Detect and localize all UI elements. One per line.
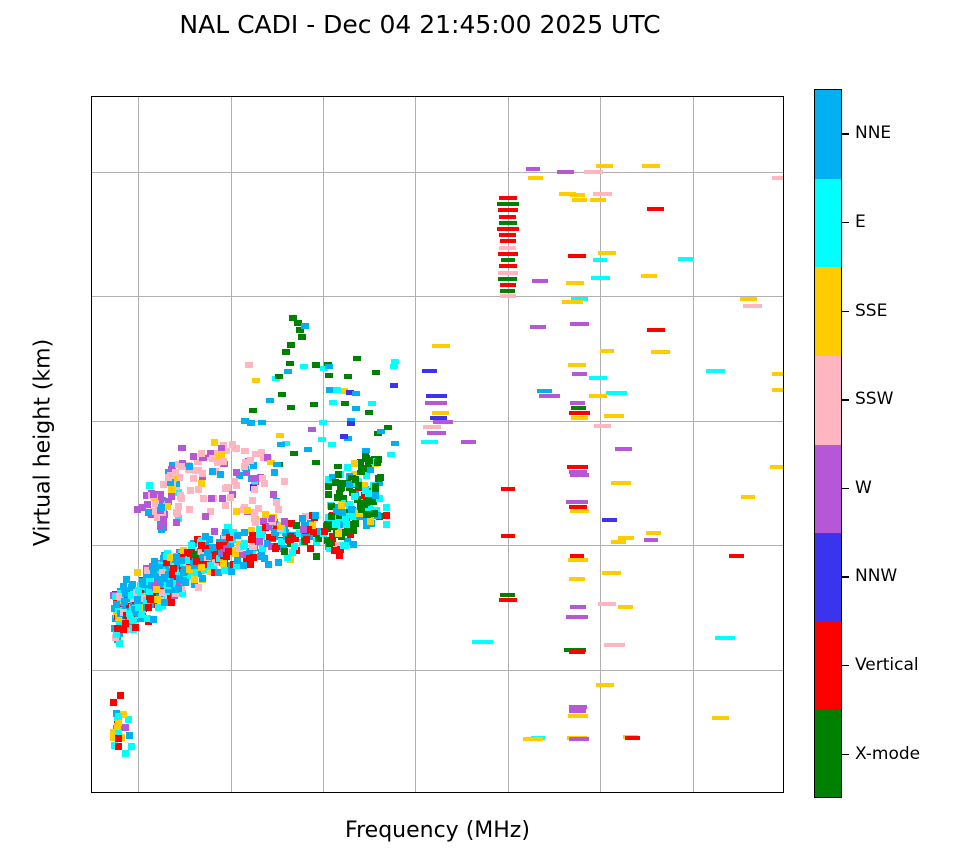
echo-point [358,466,366,471]
echo-point [178,557,185,564]
echo-point [247,420,255,426]
echo-point [348,506,355,513]
echo-point [272,545,279,552]
echo-point [190,475,197,482]
echo-point [202,533,209,540]
echo-point [557,170,574,174]
echo-point [247,457,254,464]
colorbar-label: E [855,212,866,232]
y-axis-minor-tick [91,483,92,484]
colorbar-segment [815,356,841,445]
plot-area: 020040060080010002468101214160 [91,96,784,793]
echo-point [526,167,541,171]
echo-point [594,424,612,428]
echo-point [115,735,122,742]
echo-point [240,543,247,550]
echo-point [500,289,515,293]
echo-point [499,221,516,225]
echo-point [281,478,288,485]
echo-point [641,274,657,278]
echo-point [188,542,195,549]
echo-point [222,502,229,509]
echo-point [228,568,235,575]
x-axis-tick [138,792,139,793]
echo-point [523,737,543,741]
echo-point [207,562,214,569]
echo-point [110,699,117,706]
echo-point [258,420,266,425]
gridline-horizontal [92,296,783,297]
echo-point [530,325,546,329]
echo-point [161,599,168,606]
echo-point [168,493,175,500]
echo-point [300,364,308,369]
echo-point [568,558,588,562]
echo-point [273,499,280,506]
echo-point [366,457,373,464]
echo-point [772,388,784,392]
echo-point [570,193,585,197]
echo-point [426,394,447,398]
echo-point [611,540,626,544]
echo-point [423,425,441,429]
echo-point [178,463,185,470]
echo-point [224,484,231,491]
echo-point [497,202,519,206]
echo-point [584,170,603,174]
echo-point [499,246,516,250]
echo-point [361,501,368,508]
echo-point [275,559,282,566]
echo-point [198,564,205,571]
colorbar-tick [842,133,849,134]
gridline-vertical [415,97,416,792]
colorbar-segment [815,179,841,268]
echo-point [146,482,153,489]
echo-point [743,304,762,308]
colorbar-label: NNW [855,566,897,586]
echo-point [190,453,197,460]
echo-point [117,692,124,699]
echo-point [472,640,493,644]
echo-point [770,465,784,469]
echo-point [425,401,447,405]
echo-point [160,517,167,524]
echo-point [602,518,617,522]
colorbar-tick [842,222,849,223]
y-axis-title: Virtual height (km) [31,253,56,633]
echo-point [300,526,307,533]
y-axis-tick [91,172,92,173]
x-axis-title: Frequency (MHz) [91,818,784,843]
echo-point [286,361,294,366]
echo-point [126,732,133,739]
x-axis-minor-tick [462,792,463,793]
echo-point [321,528,328,535]
x-axis-minor-tick [646,792,647,793]
x-axis-minor-tick [739,792,740,793]
echo-point [352,520,359,527]
x-axis-minor-tick [184,792,185,793]
echo-point [566,615,588,619]
echo-point [287,405,295,410]
echo-point [160,481,167,488]
echo-point [262,511,269,518]
echo-point [202,513,209,520]
echo-point [145,509,152,516]
echo-point [528,176,543,180]
echo-point [307,545,314,552]
echo-point [383,512,390,519]
echo-point [729,554,744,558]
echo-point [166,580,173,587]
echo-point [252,519,259,526]
echo-point [501,534,515,538]
echo-point [352,391,360,396]
echo-point [383,504,390,511]
echo-point [598,251,617,255]
echo-point [312,362,320,368]
x-axis-tick [323,792,324,793]
echo-point [128,743,135,750]
y-axis-tick [91,670,92,671]
echo-point [604,414,624,418]
echo-point [293,522,300,529]
echo-point [275,506,282,513]
echo-point [500,294,516,298]
echo-point [367,518,374,525]
echo-point [568,714,588,718]
echo-point [325,364,333,369]
echo-point [114,625,121,632]
echo-point [318,437,326,442]
echo-point [298,334,306,340]
echo-point [383,521,390,528]
echo-point [362,487,369,494]
echo-point [134,506,141,513]
colorbar [814,89,842,798]
echo-point [208,495,215,502]
echo-point [245,362,253,368]
colorbar-segment [815,710,841,798]
echo-point [303,536,310,543]
echo-point [615,447,632,451]
echo-point [353,356,361,361]
echo-point [611,481,630,485]
x-axis-minor-tick [369,792,370,793]
echo-point [340,434,348,439]
echo-point [249,408,257,413]
echo-point [367,466,374,473]
colorbar-tick [842,754,849,755]
echo-point [199,470,206,477]
echo-point [591,276,610,280]
echo-point [618,605,633,609]
echo-point [500,593,515,597]
echo-point [646,531,662,535]
echo-point [168,599,175,606]
echo-point [173,509,180,516]
echo-point [430,416,448,420]
echo-point [593,192,613,196]
echo-point [122,724,129,731]
echo-point [132,624,139,631]
echo-point [135,604,142,611]
colorbar-label: W [855,478,872,498]
echo-point [257,553,264,560]
echo-point [337,485,344,492]
echo-point [271,469,278,476]
echo-point [278,392,286,397]
echo-point [165,474,172,481]
echo-point [706,369,725,373]
echo-point [273,462,281,467]
echo-point [266,398,274,403]
echo-point [715,636,734,640]
echo-point [498,208,518,212]
echo-point [606,391,628,395]
echo-point [569,411,590,415]
ionogram-figure: NAL CADI - Dec 04 21:45:00 2025 UTC 0200… [0,0,958,857]
echo-point [304,447,312,452]
echo-point [339,509,346,516]
echo-point [570,322,588,326]
echo-point [209,468,216,475]
echo-point [122,750,129,757]
echo-point [173,519,180,526]
echo-point [250,475,257,482]
echo-point [231,478,238,485]
echo-point [539,394,559,398]
echo-point [772,372,784,376]
echo-point [347,421,355,426]
gridline-vertical [138,97,139,792]
echo-point [351,493,358,500]
echo-point [372,492,379,499]
colorbar-ticks: NNEESSESSWWNNWVerticalX-mode [842,89,958,798]
colorbar-tick [842,399,849,400]
echo-point [121,598,128,605]
echo-point [625,736,639,740]
echo-point [387,452,395,457]
echo-point [570,473,589,477]
echo-point [191,576,198,583]
echo-point [569,650,584,654]
colorbar-tick [842,665,849,666]
echo-point [712,716,729,720]
colorbar-segment [815,622,841,711]
echo-point [432,344,451,348]
colorbar-segment [815,267,841,356]
echo-point [225,548,232,555]
echo-point [276,433,284,438]
echo-point [390,364,398,369]
echo-point [145,604,152,611]
echo-point [377,474,384,481]
echo-point [217,471,224,478]
echo-point [501,487,515,491]
colorbar-tick [842,576,849,577]
echo-point [532,279,548,283]
echo-point [325,373,333,378]
echo-point [329,400,337,405]
echo-point [772,176,784,180]
echo-point [335,471,342,478]
echo-point [308,427,316,432]
echo-point [589,376,607,380]
echo-point [198,450,205,457]
y-axis-minor-tick [91,109,92,110]
echo-point [377,429,385,434]
echo-point [422,369,438,373]
echo-point [374,459,381,466]
echo-point [282,349,290,355]
echo-point [569,709,586,713]
echo-point [325,491,332,498]
echo-point [195,584,202,591]
y-axis-minor-tick [91,234,92,235]
y-axis-minor-tick [91,358,92,359]
echo-point [372,370,380,375]
echo-point [678,257,694,261]
y-axis-tick [91,545,92,546]
echo-point [168,486,175,493]
echo-point [123,576,130,583]
echo-point [326,540,333,547]
echo-point [200,495,207,502]
echo-point [150,616,157,623]
echo-point [277,442,285,447]
echo-point [568,254,586,258]
echo-point [186,463,193,470]
echo-point [499,233,516,237]
echo-point [593,258,607,262]
y-axis-minor-tick [91,732,92,733]
gridline-vertical [323,97,324,792]
echo-point [113,601,120,608]
echo-point [175,585,182,592]
y-axis-minor-tick [91,607,92,608]
echo-point [115,713,122,720]
colorbar-label: X-mode [855,744,920,764]
echo-point [500,283,516,287]
echo-point [368,401,376,406]
y-axis-tick [91,421,92,422]
echo-point [499,264,516,268]
colorbar-segment [815,445,841,534]
echo-point [357,470,365,475]
echo-point [220,458,227,465]
x-axis-minor-tick [277,792,278,793]
x-axis-tick [693,792,694,793]
echo-point [265,561,272,568]
echo-point [249,497,256,504]
echo-point [170,565,177,572]
gridline-horizontal [92,670,783,671]
echo-point [255,505,262,512]
echo-point [498,271,518,275]
echo-point [334,464,342,469]
echo-point [590,198,607,202]
echo-point [570,401,585,405]
echo-point [500,239,517,243]
echo-point [421,440,438,444]
echo-point [291,543,298,550]
echo-point [290,451,298,456]
echo-point [596,683,614,687]
echo-point [602,571,621,575]
echo-point [647,328,665,332]
gridline-horizontal [92,172,783,173]
echo-point [344,374,352,379]
x-axis-tick [415,792,416,793]
echo-point [566,281,585,285]
echo-point [348,475,356,480]
echo-point [501,258,516,262]
echo-point [301,323,309,329]
echo-point [572,372,587,376]
echo-point [328,442,336,447]
echo-point [261,480,268,487]
echo-point [596,164,613,168]
echo-point [537,389,552,393]
echo-point [343,521,350,528]
echo-point [335,530,342,537]
echo-point [333,387,341,393]
colorbar-label: Vertical [855,655,919,675]
echo-point [138,611,145,618]
echo-point [569,737,589,741]
echo-point [499,196,517,200]
echo-point [211,528,218,535]
echo-point [572,198,586,202]
echo-point [244,507,251,514]
echo-point [233,508,240,515]
echo-point [644,538,659,542]
echo-point [391,441,399,446]
echo-point [186,506,193,513]
echo-point [219,495,226,502]
echo-point [571,406,586,410]
echo-point [604,643,625,647]
echo-point [199,575,206,582]
echo-point [340,542,347,549]
echo-point [234,532,241,539]
echo-point [227,494,234,501]
echo-point [647,207,664,211]
echo-point [499,215,516,219]
echo-point [275,374,283,379]
page-title: NAL CADI - Dec 04 21:45:00 2025 UTC [0,10,840,39]
x-axis-tick [600,792,601,793]
colorbar-segment [815,90,841,179]
x-axis-tick [231,792,232,793]
echo-point [352,406,360,411]
echo-point [589,394,606,398]
echo-point [461,440,475,444]
echo-point [497,227,519,231]
echo-point [562,300,583,304]
echo-point [233,445,240,452]
echo-point [740,297,757,301]
echo-point [241,448,249,454]
echo-point [362,448,370,453]
echo-point [135,587,142,594]
echo-point [195,486,202,493]
echo-point [371,510,378,517]
colorbar-label: SSE [855,301,887,321]
echo-point [598,602,616,606]
